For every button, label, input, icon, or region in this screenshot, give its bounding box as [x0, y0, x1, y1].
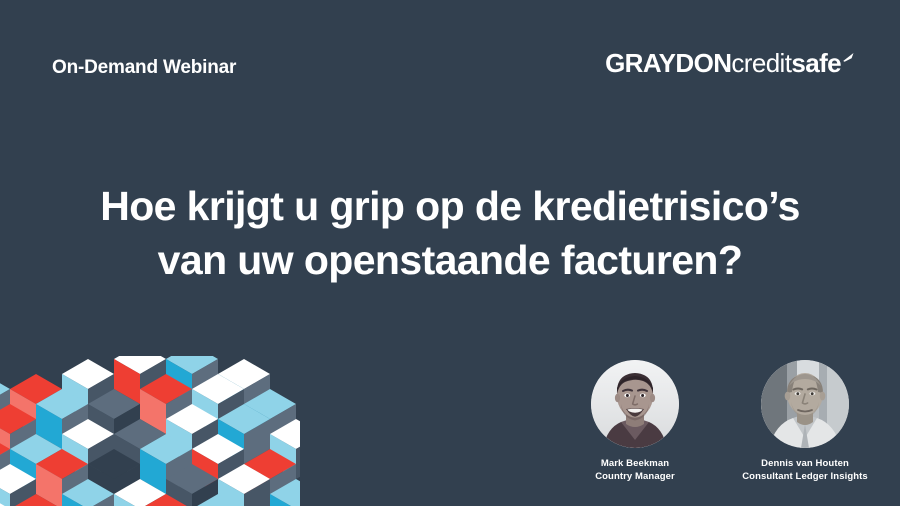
graydon-creditsafe-logo: GRAYDON credit safe — [605, 50, 855, 76]
logo-text-safe: safe — [791, 50, 841, 76]
avatar-dennis-van-houten — [761, 360, 849, 448]
speaker-name: Mark Beekman — [565, 457, 705, 470]
speaker-list: Mark Beekman Country Manager — [565, 360, 875, 483]
logo-text-credit: credit — [731, 50, 791, 76]
speaker-name: Dennis van Houten — [735, 457, 875, 470]
headline-line-2: van uw openstaande facturen? — [40, 233, 860, 287]
avatar-mark-beekman — [591, 360, 679, 448]
speaker-card-1: Mark Beekman Country Manager — [565, 360, 705, 483]
speaker-role: Country Manager — [565, 470, 705, 483]
speaker-role: Consultant Ledger Insights — [735, 470, 875, 483]
speaker-card-2: Dennis van Houten Consultant Ledger Insi… — [735, 360, 875, 483]
page-title: Hoe krijgt u grip op de kredietrisico’s … — [0, 179, 900, 287]
isometric-cubes-graphic — [0, 356, 300, 506]
headline-line-1: Hoe krijgt u grip op de kredietrisico’s — [40, 179, 860, 233]
webinar-slide: On-Demand Webinar GRAYDON credit safe Ho… — [0, 0, 900, 506]
eyebrow-label: On-Demand Webinar — [52, 57, 236, 79]
leaf-swoosh-icon — [842, 52, 855, 65]
logo-text-graydon: GRAYDON — [605, 50, 731, 76]
